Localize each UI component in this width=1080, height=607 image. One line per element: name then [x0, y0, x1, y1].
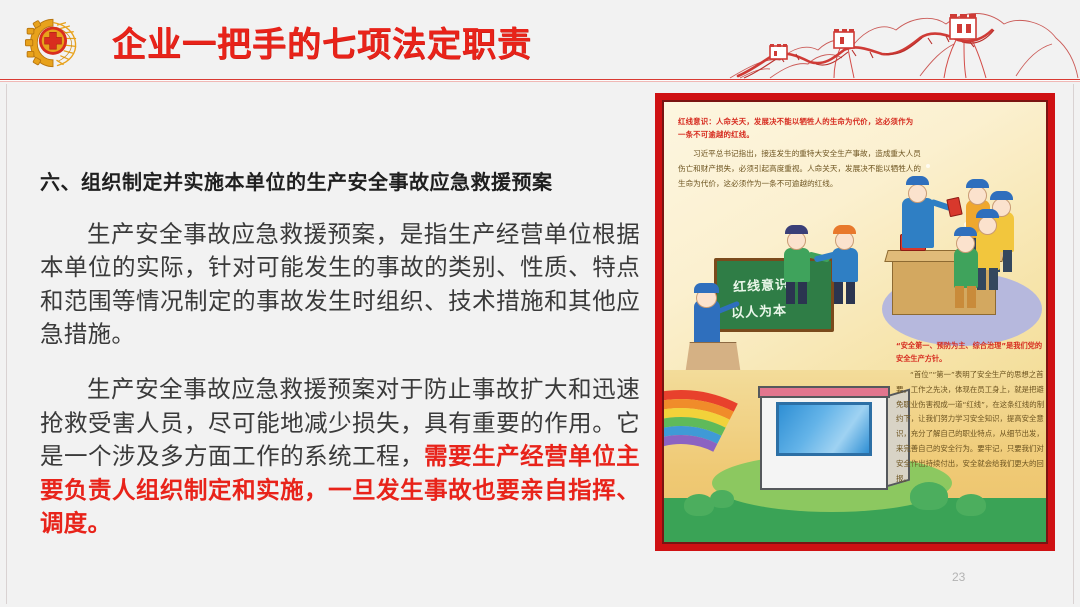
poster-red-heading: 红线意识：人命关天，发展决不能以牺牲人的生命为代价，这必须作为一条不可逾越的红线… — [678, 116, 916, 142]
safety-emblem-gear-cross-icon — [24, 16, 82, 70]
page-number: 23 — [952, 570, 965, 584]
content-column: 六、组织制定并实施本单位的生产安全事故应急救援预案 生产安全事故应急救援预案，是… — [40, 168, 640, 540]
poster-slogan: “安全第一、预防为主、综合治理”是我们党的安全生产方针。 — [896, 340, 1046, 365]
sparkle-dot — [926, 164, 930, 168]
section-heading: 六、组织制定并实施本单位的生产安全事故应急救援预案 — [40, 168, 640, 196]
paragraph-2: 生产安全事故应急救援预案对于防止事故扩大和迅速抢救受害人员，尽可能地减少损失，具… — [40, 373, 640, 540]
building-window — [776, 402, 872, 456]
slide: 企业一把手的七项法定职责 — [0, 0, 1080, 607]
blackboard-line-1: 红线意识 — [733, 274, 790, 296]
poster-inner-frame: 红线意识：人命关天，发展决不能以牺牲人的生命为代价，这必须作为一条不可逾越的红线… — [662, 100, 1048, 544]
bush-icon — [710, 490, 734, 508]
left-margin-rule — [6, 84, 7, 604]
slide-header: 企业一把手的七项法定职责 — [0, 0, 1080, 82]
safety-poster-image: 红线意识：人命关天，发展决不能以牺牲人的生命为代价，这必须作为一条不可逾越的红线… — [655, 93, 1055, 551]
poster-body-text-2: “首位”“第一”表明了安全生产的思想之首要。工作之先决，体现在员工身上，就是把避… — [896, 368, 1046, 487]
great-wall-illustration-icon — [620, 0, 1080, 80]
page-title: 企业一把手的七项法定职责 — [112, 17, 532, 66]
header-divider — [0, 79, 1080, 82]
bush-icon — [956, 494, 986, 516]
poster-body-text: 习近平总书记指出，接连发生的重特大安全生产事故，造成重大人员伤亡和财产损失，必须… — [678, 146, 924, 192]
right-margin-rule — [1073, 84, 1074, 604]
paragraph-1: 生产安全事故应急救援预案，是指生产经营单位根据本单位的实际，针对可能发生的事故的… — [40, 218, 640, 351]
teacher-at-blackboard-icon: 红线意识 以人为本 — [714, 258, 834, 332]
teacher-cap — [694, 283, 719, 293]
building-roof — [758, 386, 890, 398]
